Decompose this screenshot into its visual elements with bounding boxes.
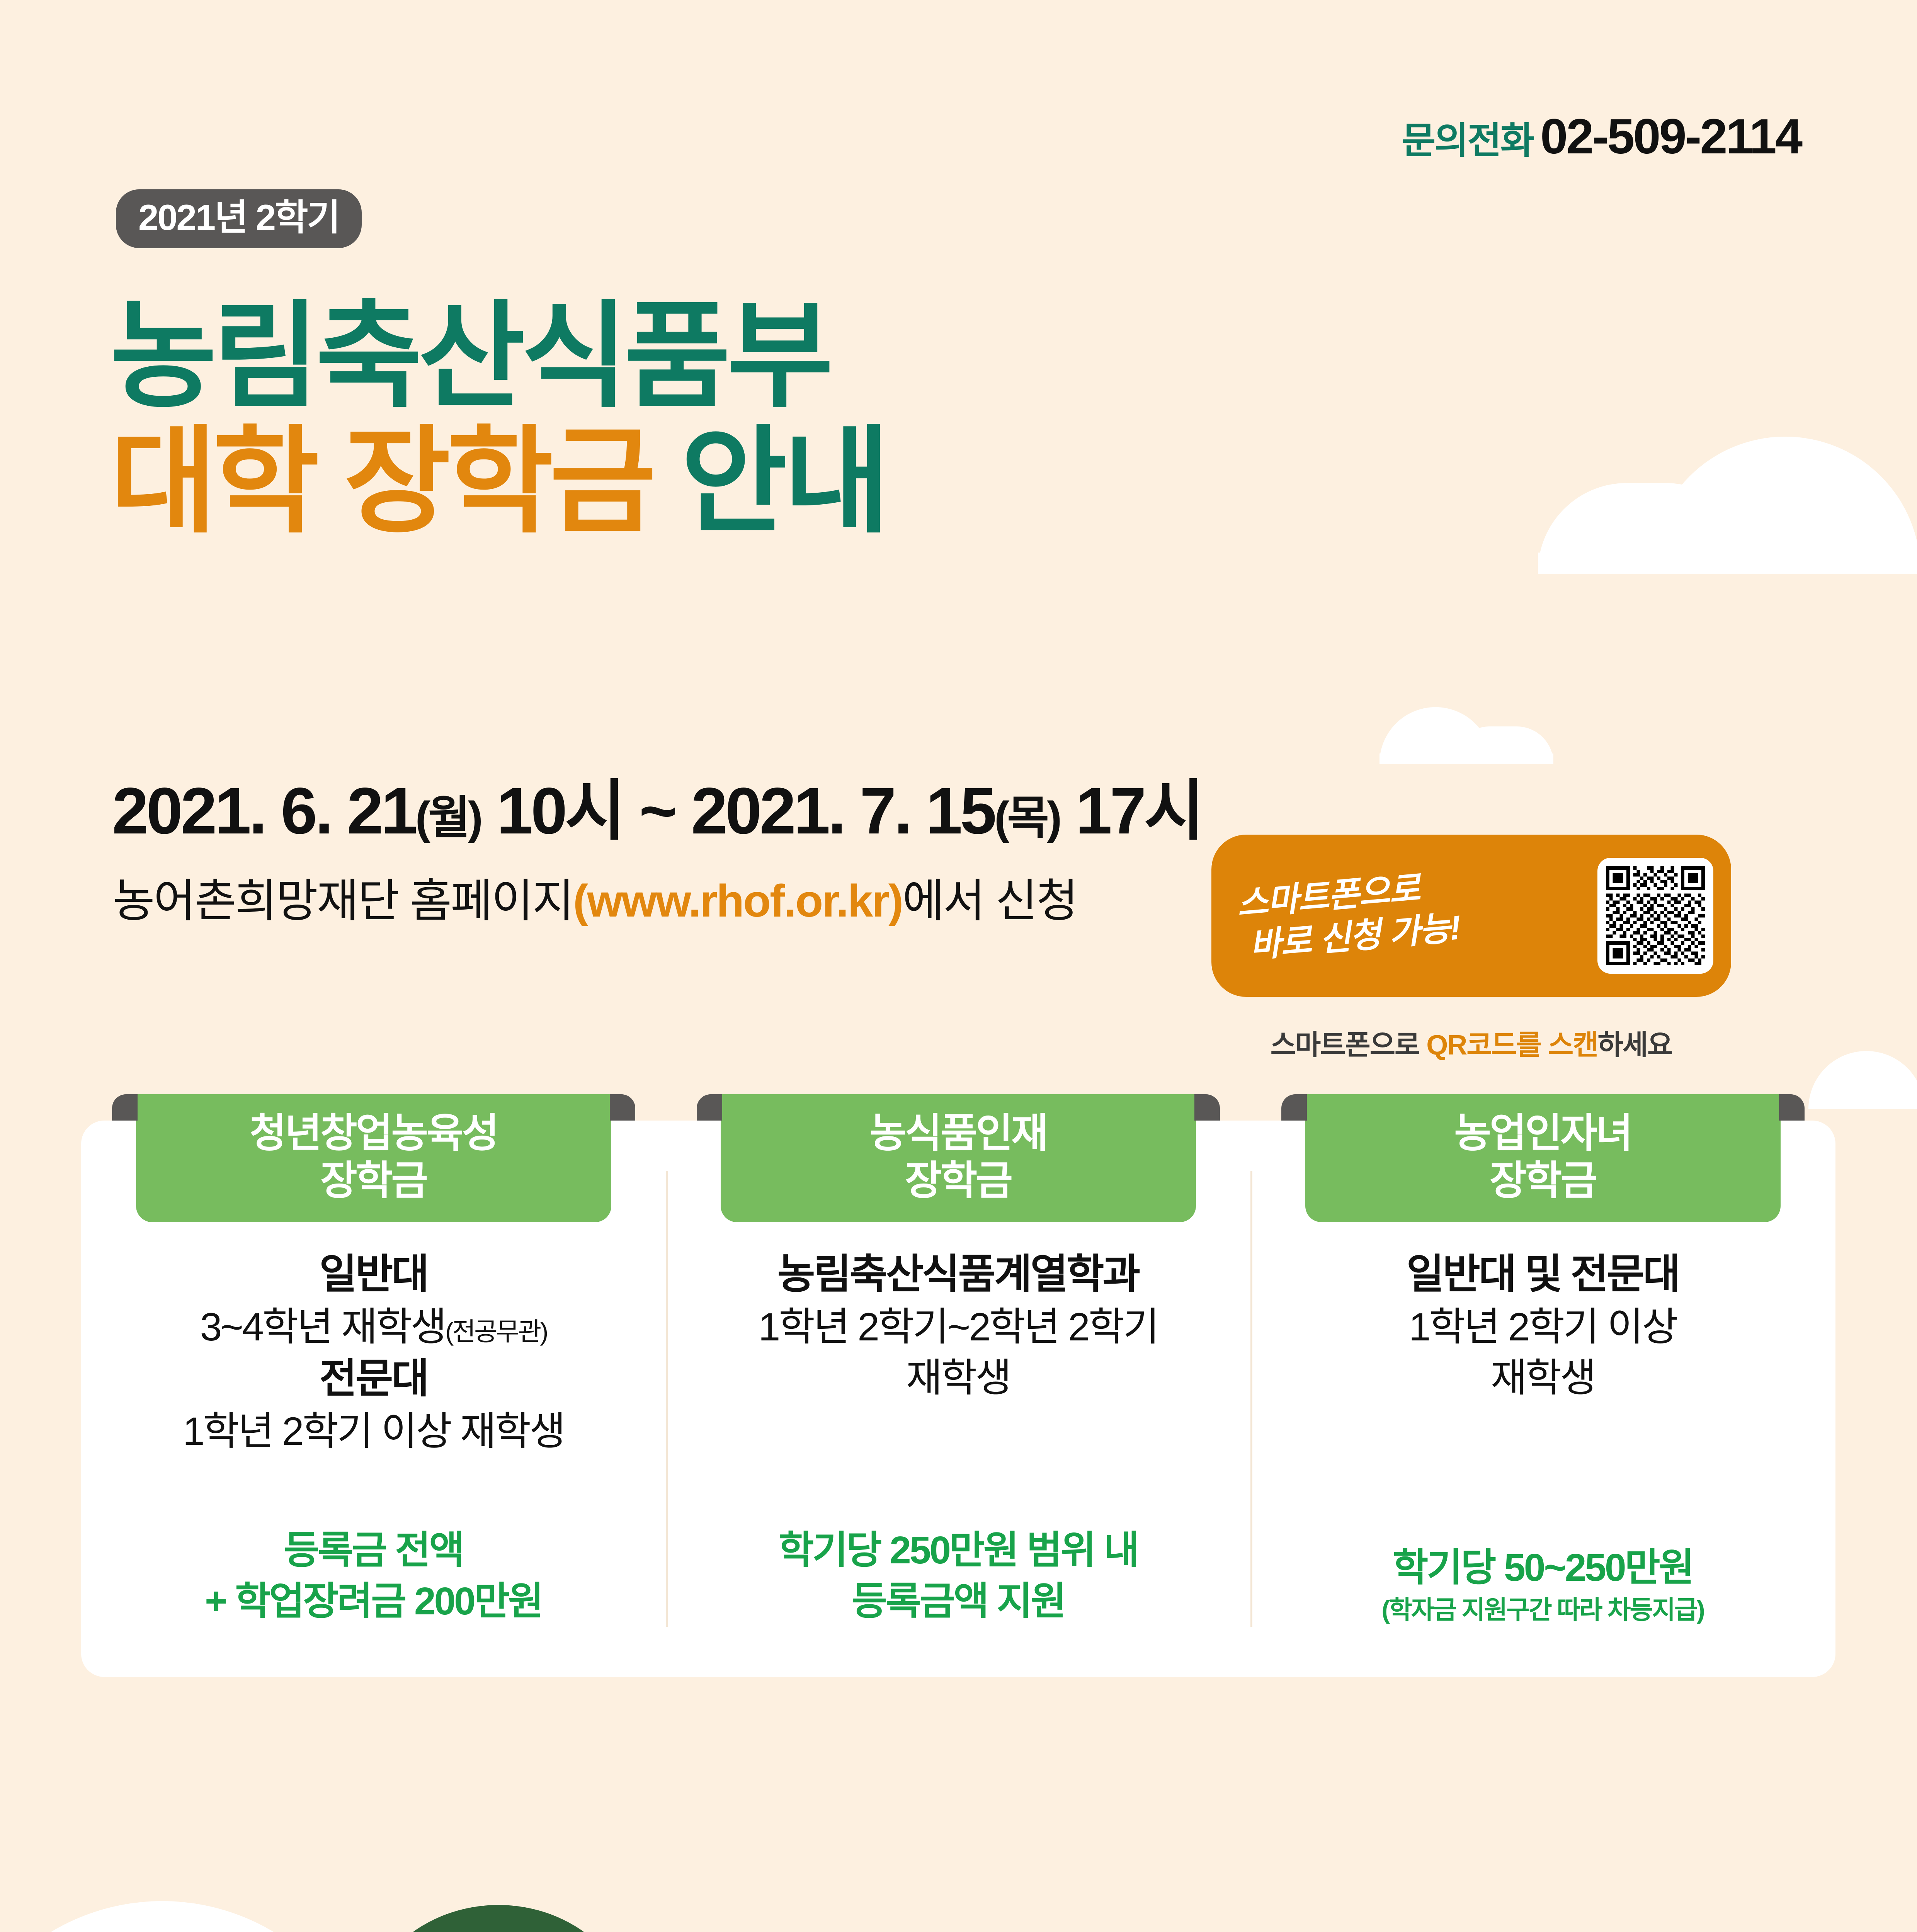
- scholarship-card-2[interactable]: 농식품인재 장학금 농림축산식품계열학과 1학년 2학기~2학년 2학기 재학생…: [666, 1121, 1250, 1677]
- card-1-banner: 청년창업농육성 장학금: [136, 1094, 611, 1222]
- card-2-banner-line1: 농식품인재: [721, 1110, 1196, 1157]
- card-1-body-0: 일반대: [100, 1248, 647, 1301]
- card-1-body-2: 전문대: [100, 1352, 647, 1406]
- card-1-banner-line2: 장학금: [136, 1157, 611, 1205]
- end-day: (목): [994, 793, 1060, 844]
- fold-corner-left-icon: [112, 1094, 138, 1121]
- card-1-body-1-note: (전공무관): [445, 1317, 547, 1346]
- card-3-banner-line2: 장학금: [1305, 1157, 1781, 1205]
- fold-corner-right-icon: [1779, 1094, 1805, 1121]
- qr-caption-highlight: QR코드를 스캔: [1426, 1030, 1597, 1061]
- card-3-banner: 농업인자녀 장학금: [1305, 1094, 1781, 1222]
- title-line-2-green: [652, 417, 680, 546]
- fold-corner-right-icon: [610, 1094, 635, 1121]
- apply-instruction: 농어촌희망재단 홈페이지(www.rhof.or.kr)에서 신청: [113, 864, 1077, 930]
- card-3-amount-line1: 학기당 50~250만원: [1266, 1542, 1820, 1593]
- page-title: 농림축산식품부 대학 장학금 안내: [110, 294, 886, 544]
- card-3-body-2: 재학생: [1269, 1352, 1817, 1404]
- title-line-2-orange: 대학 장학금: [110, 417, 652, 546]
- card-1-amount-line1: 등록금 전액: [97, 1525, 650, 1576]
- card-2-body-0: 농림축산식품계열학과: [684, 1248, 1232, 1301]
- card-1-body-1-text: 3~4학년 재학생: [200, 1305, 446, 1349]
- fold-corner-right-icon: [1194, 1094, 1220, 1121]
- qr-code-icon[interactable]: [1597, 858, 1713, 974]
- application-period: 2021. 6. 21(월) 10시 ~ 2021. 7. 15(목) 17시: [112, 757, 1202, 852]
- card-3-amount-note: (학자금 지원구간 따라 차등지급): [1266, 1593, 1820, 1627]
- phone-number: 02-509-2114: [1540, 108, 1801, 165]
- card-2-body: 농림축산식품계열학과 1학년 2학기~2학년 2학기 재학생: [666, 1248, 1250, 1404]
- apply-suffix: 에서 신청: [902, 876, 1077, 927]
- card-1-body-3: 1학년 2학기 이상 재학생: [100, 1406, 647, 1457]
- card-2-body-1: 1학년 2학기~2학년 2학기: [684, 1301, 1232, 1353]
- apply-url[interactable]: (www.rhof.or.kr): [573, 876, 902, 927]
- card-2-amount-line1: 학기당 250만원 범위 내: [681, 1525, 1235, 1576]
- card-2-banner-line2: 장학금: [721, 1157, 1196, 1205]
- qr-caption-prefix: 스마트폰으로: [1271, 1030, 1426, 1061]
- card-1-banner-line1: 청년창업농육성: [136, 1110, 611, 1157]
- qr-caption-suffix: 하세요: [1597, 1030, 1672, 1061]
- card-2-amount: 학기당 250만원 범위 내 등록금액 지원: [666, 1525, 1250, 1627]
- qr-caption: 스마트폰으로 QR코드를 스캔하세요: [1237, 1022, 1706, 1063]
- card-2-banner: 농식품인재 장학금: [721, 1094, 1196, 1222]
- scholarship-cards-panel: 청년창업농육성 장학금 일반대 3~4학년 재학생(전공무관) 전문대 1학년 …: [81, 1121, 1835, 1677]
- card-3-body: 일반대 및 전문대 1학년 2학기 이상 재학생: [1250, 1248, 1835, 1404]
- card-1-body: 일반대 3~4학년 재학생(전공무관) 전문대 1학년 2학기 이상 재학생: [81, 1248, 666, 1457]
- farm-illustration: [0, 1708, 1917, 1932]
- start-date: 2021. 6. 21: [112, 774, 415, 848]
- fold-corner-left-icon: [1281, 1094, 1307, 1121]
- scholarship-card-1[interactable]: 청년창업농육성 장학금 일반대 3~4학년 재학생(전공무관) 전문대 1학년 …: [81, 1121, 666, 1677]
- title-line-2: 대학 장학금 안내: [110, 419, 886, 544]
- range-tilde: ~: [623, 774, 691, 848]
- card-3-banner-line1: 농업인자녀: [1305, 1110, 1781, 1157]
- card-3-amount: 학기당 50~250만원 (학자금 지원구간 따라 차등지급): [1250, 1542, 1835, 1627]
- end-time: 17시: [1076, 774, 1203, 848]
- card-1-amount-line2: + 학업장려금 200만원: [97, 1576, 650, 1627]
- end-date: 2021. 7. 15: [691, 774, 994, 848]
- card-1-amount: 등록금 전액 + 학업장려금 200만원: [81, 1525, 666, 1627]
- start-time: 10시: [497, 774, 623, 848]
- card-3-body-0: 일반대 및 전문대: [1269, 1248, 1817, 1301]
- apply-prefix: 농어촌희망재단 홈페이지: [113, 876, 573, 927]
- qr-callout-bubble: 스마트폰으로 바로 신청 가능!: [1211, 835, 1731, 997]
- contact-phone: 문의전화 02-509-2114: [1402, 108, 1801, 165]
- phone-label: 문의전화: [1402, 111, 1533, 164]
- title-line-1: 농림축산식품부: [110, 294, 886, 419]
- card-1-body-1: 3~4학년 재학생(전공무관): [100, 1301, 647, 1353]
- fold-corner-left-icon: [697, 1094, 722, 1121]
- card-2-body-2: 재학생: [684, 1352, 1232, 1404]
- start-day: (월): [415, 793, 481, 844]
- scholarship-card-3[interactable]: 농업인자녀 장학금 일반대 및 전문대 1학년 2학기 이상 재학생 학기당 5…: [1250, 1121, 1835, 1677]
- semester-badge: 2021년 2학기: [116, 189, 362, 248]
- title-line-2-green-text: 안내: [681, 417, 886, 546]
- card-3-body-1: 1학년 2학기 이상: [1269, 1301, 1817, 1353]
- scholarship-poster: 문의전화 02-509-2114 2021년 2학기 농림축산식품부 대학 장학…: [0, 0, 1917, 1932]
- qr-bubble-text: 스마트폰으로 바로 신청 가능!: [1235, 864, 1462, 968]
- card-2-amount-line2: 등록금액 지원: [681, 1576, 1235, 1627]
